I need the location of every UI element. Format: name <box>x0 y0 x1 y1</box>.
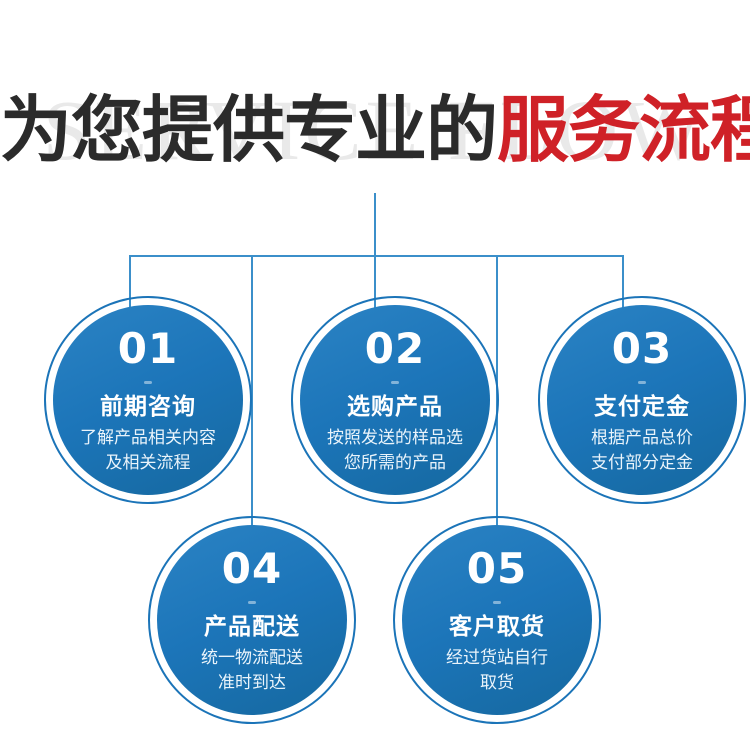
step-title-03: 支付定金 <box>594 393 690 421</box>
step-title-04: 产品配送 <box>204 613 300 641</box>
connector-bus <box>129 255 624 257</box>
step-desc-01-line1: 了解产品相关内容 <box>80 426 216 451</box>
step-circle-05-body: 05 客户取货 经过货站自行 取货 <box>402 525 592 715</box>
step-desc-03-line2: 支付部分定金 <box>591 451 693 476</box>
step-divider-01 <box>144 381 152 384</box>
step-divider-05 <box>493 601 501 604</box>
page-title-dark: 为您提供专业的 <box>0 88 497 172</box>
service-flow-infographic: SERVICE FLOW 为您提供专业的服务流程 01 前期咨询 了解产品相关内… <box>0 0 750 750</box>
step-title-02: 选购产品 <box>347 393 443 421</box>
step-circle-05[interactable]: 05 客户取货 经过货站自行 取货 <box>393 516 601 724</box>
step-circle-04[interactable]: 04 产品配送 统一物流配送 准时到达 <box>148 516 356 724</box>
step-desc-02-line2: 您所需的产品 <box>327 451 463 476</box>
step-number-05: 05 <box>467 547 527 591</box>
step-desc-04-line1: 统一物流配送 <box>201 646 303 671</box>
step-number-01: 01 <box>118 327 178 371</box>
step-number-02: 02 <box>365 327 425 371</box>
step-desc-03: 根据产品总价 支付部分定金 <box>591 426 693 476</box>
step-desc-05-line2: 取货 <box>446 671 548 696</box>
step-circle-02-body: 02 选购产品 按照发送的样品选 您所需的产品 <box>300 305 490 495</box>
step-desc-02-line1: 按照发送的样品选 <box>327 426 463 451</box>
step-title-01: 前期咨询 <box>100 393 196 421</box>
step-desc-01: 了解产品相关内容 及相关流程 <box>80 426 216 476</box>
step-desc-04: 统一物流配送 准时到达 <box>201 646 303 696</box>
step-title-05: 客户取货 <box>449 613 545 641</box>
step-circle-03-body: 03 支付定金 根据产品总价 支付部分定金 <box>547 305 737 495</box>
step-desc-01-line2: 及相关流程 <box>80 451 216 476</box>
step-circle-03[interactable]: 03 支付定金 根据产品总价 支付部分定金 <box>538 296 746 504</box>
step-desc-04-line2: 准时到达 <box>201 671 303 696</box>
title-area: SERVICE FLOW 为您提供专业的服务流程 <box>0 78 750 188</box>
step-circle-04-body: 04 产品配送 统一物流配送 准时到达 <box>157 525 347 715</box>
step-desc-02: 按照发送的样品选 您所需的产品 <box>327 426 463 476</box>
step-divider-02 <box>391 381 399 384</box>
step-divider-04 <box>248 601 256 604</box>
step-desc-03-line1: 根据产品总价 <box>591 426 693 451</box>
step-circle-01-body: 01 前期咨询 了解产品相关内容 及相关流程 <box>53 305 243 495</box>
page-title-red: 服务流程 <box>497 88 750 172</box>
connector-stem-top <box>374 193 376 257</box>
step-desc-05-line1: 经过货站自行 <box>446 646 548 671</box>
step-number-03: 03 <box>612 327 672 371</box>
step-circle-02[interactable]: 02 选购产品 按照发送的样品选 您所需的产品 <box>291 296 499 504</box>
step-divider-03 <box>638 381 646 384</box>
page-title: 为您提供专业的服务流程 <box>0 84 750 197</box>
step-circle-01[interactable]: 01 前期咨询 了解产品相关内容 及相关流程 <box>44 296 252 504</box>
step-desc-05: 经过货站自行 取货 <box>446 646 548 696</box>
step-number-04: 04 <box>222 547 282 591</box>
